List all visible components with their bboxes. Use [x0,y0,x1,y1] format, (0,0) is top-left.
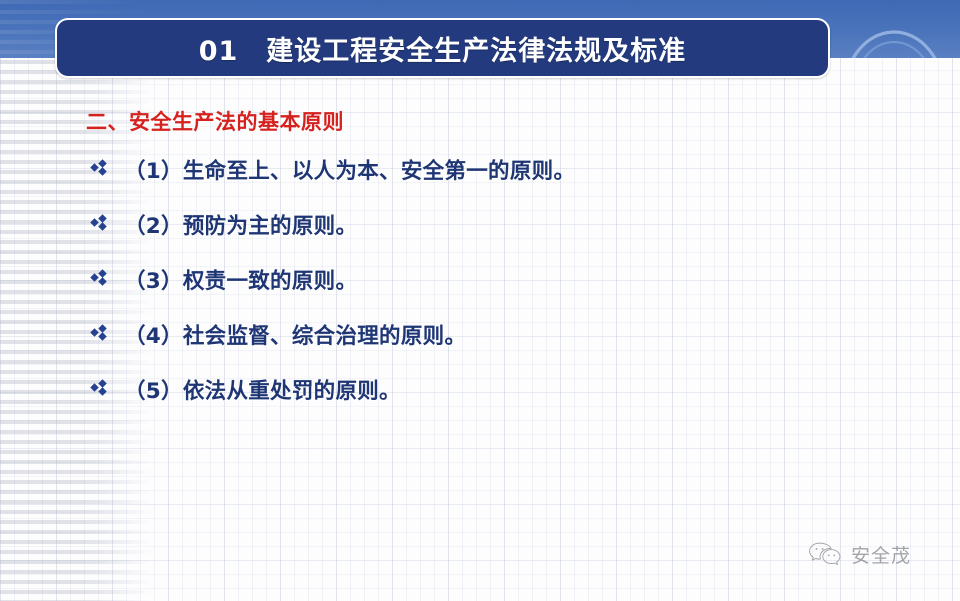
list-item: （1）生命至上、以人为本、安全第一的原则。 [90,158,920,213]
diamond-bullet-icon [90,269,124,289]
watermark: 安全茂 [808,540,911,568]
list-item-label: （2）预防为主的原则。 [124,213,357,241]
list-item-label: （4）社会监督、综合治理的原则。 [124,323,466,351]
page-title: 01 建设工程安全生产法律法规及标准 [199,29,687,68]
diamond-bullet-icon [90,379,124,399]
wechat-icon [808,540,842,568]
diamond-bullet-icon [90,324,124,344]
diamond-bullet-icon [90,159,124,179]
slide-title-plate: 01 建设工程安全生产法律法规及标准 [55,18,830,78]
principles-list: （1）生命至上、以人为本、安全第一的原则。 （2）预防为主的原则。 [90,158,920,433]
list-item-label: （1）生命至上、以人为本、安全第一的原则。 [124,158,575,186]
list-item: （2）预防为主的原则。 [90,213,920,268]
list-item: （5）依法从重处罚的原则。 [90,378,920,433]
diamond-bullet-icon [90,214,124,234]
watermark-label: 安全茂 [851,541,911,568]
arc-decoration-icon [840,2,948,58]
section-heading: 二、安全生产法的基本原则 [86,106,344,136]
presentation-slide: 01 建设工程安全生产法律法规及标准 二、安全生产法的基本原则 （1）生命至上、… [0,0,960,601]
list-item-label: （3）权责一致的原则。 [124,268,357,296]
list-item: （3）权责一致的原则。 [90,268,920,323]
list-item-label: （5）依法从重处罚的原则。 [124,378,401,406]
list-item: （4）社会监督、综合治理的原则。 [90,323,920,378]
